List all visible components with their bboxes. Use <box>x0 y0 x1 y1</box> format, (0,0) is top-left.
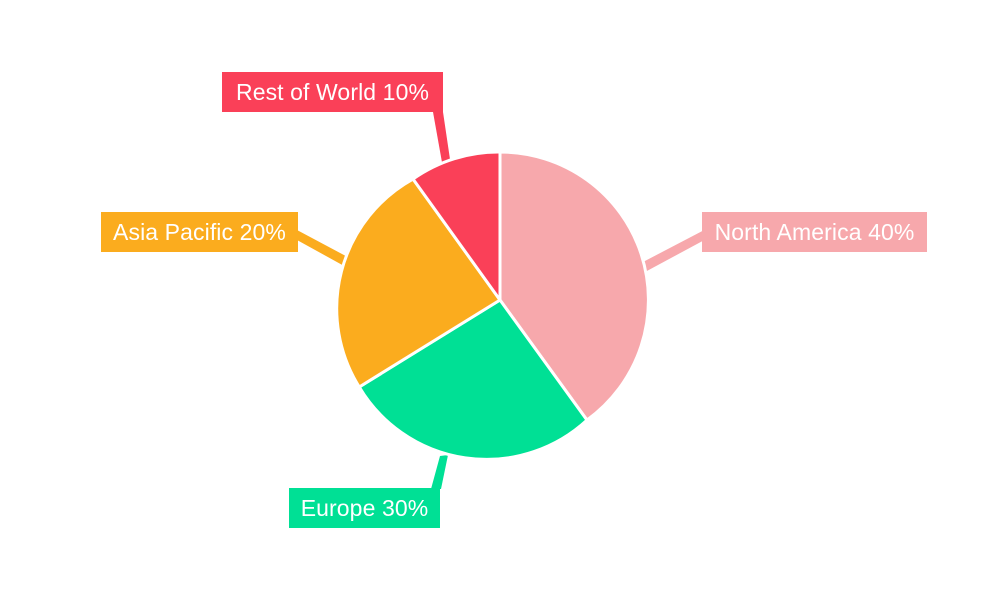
pie-label-europe[interactable]: Europe 30% <box>289 488 440 528</box>
pie-label-europe-text: Europe 30% <box>301 497 429 520</box>
pie-chart-canvas <box>0 0 1000 600</box>
pie-label-rest-of-world[interactable]: Rest of World 10% <box>222 72 443 112</box>
pie-label-asia-pacific[interactable]: Asia Pacific 20% <box>101 212 298 252</box>
pie-label-rest-of-world-text: Rest of World 10% <box>236 81 429 104</box>
pie-slices-group <box>337 152 649 459</box>
pie-label-north-america[interactable]: North America 40% <box>702 212 927 252</box>
leader-line-europe <box>431 455 448 489</box>
pie-chart-figure: North America 40% Europe 30% Asia Pacifi… <box>0 0 1000 600</box>
pie-label-asia-pacific-text: Asia Pacific 20% <box>113 221 286 244</box>
leader-line-north-america <box>643 227 710 272</box>
pie-label-north-america-text: North America 40% <box>715 221 915 244</box>
